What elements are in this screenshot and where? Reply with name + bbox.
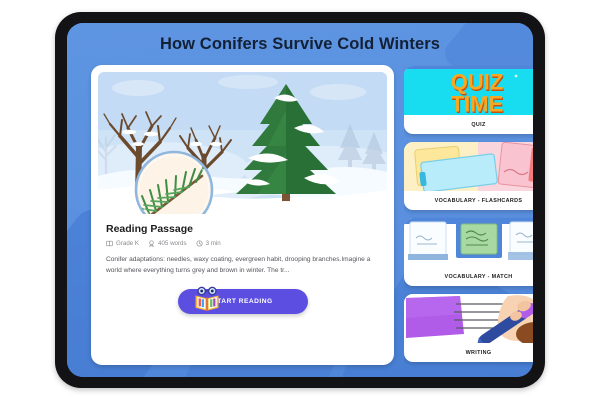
- match-cards-illustration: [404, 218, 533, 267]
- passage-excerpt: Conifer adaptations: needles, waxy coati…: [106, 255, 379, 276]
- meta-word-count: 405 words: [148, 240, 187, 247]
- activity-sidebar[interactable]: QUIZ QUIZ TIME TIME QUIZ: [404, 65, 533, 377]
- activity-label-vocabulary-match: VOCABULARY - MATCH: [404, 267, 533, 286]
- activity-label-vocabulary-flashcards: VOCABULARY - FLASHCARDS: [404, 191, 533, 210]
- activity-card-writing[interactable]: WRITING: [404, 294, 533, 362]
- activity-card-quiz[interactable]: QUIZ QUIZ TIME TIME QUIZ: [404, 66, 533, 134]
- meta-word-count-label: 405 words: [158, 240, 187, 247]
- quiz-time-banner: QUIZ QUIZ TIME TIME: [404, 66, 533, 115]
- activity-label-writing: WRITING: [404, 343, 533, 362]
- activity-label-quiz: QUIZ: [404, 115, 533, 134]
- meta-duration-label: 3 min: [206, 240, 221, 247]
- activity-card-vocabulary-flashcards[interactable]: VOCABULARY - FLASHCARDS: [404, 142, 533, 210]
- app-header: How Conifers Survive Cold Winters: [67, 23, 533, 65]
- badge-icon: [148, 240, 155, 247]
- content-area: Reading Passage Grade K: [67, 65, 533, 377]
- passage-heading: Reading Passage: [106, 223, 379, 235]
- book-icon: [106, 240, 113, 247]
- winter-scene-illustration: [98, 72, 387, 214]
- page-title: How Conifers Survive Cold Winters: [160, 35, 440, 54]
- passage-metadata: Grade K 405 words: [106, 240, 379, 247]
- tablet-screen: How Conifers Survive Cold Winters: [67, 23, 533, 377]
- clock-icon: [196, 240, 203, 247]
- activity-card-vocabulary-match[interactable]: VOCABULARY - MATCH: [404, 218, 533, 286]
- writing-hand-illustration: [404, 294, 533, 343]
- flashcards-illustration: [404, 142, 533, 191]
- passage-body: Reading Passage Grade K: [98, 214, 387, 314]
- meta-grade-label: Grade K: [116, 240, 139, 247]
- reading-passage-card[interactable]: Reading Passage Grade K: [91, 65, 394, 365]
- meta-grade: Grade K: [106, 240, 139, 247]
- svg-text:TIME: TIME: [451, 92, 504, 116]
- open-book-with-glasses-icon: [192, 284, 222, 319]
- start-reading-button[interactable]: START READING: [178, 289, 308, 314]
- meta-duration: 3 min: [196, 240, 221, 247]
- tablet-frame: How Conifers Survive Cold Winters: [55, 12, 545, 388]
